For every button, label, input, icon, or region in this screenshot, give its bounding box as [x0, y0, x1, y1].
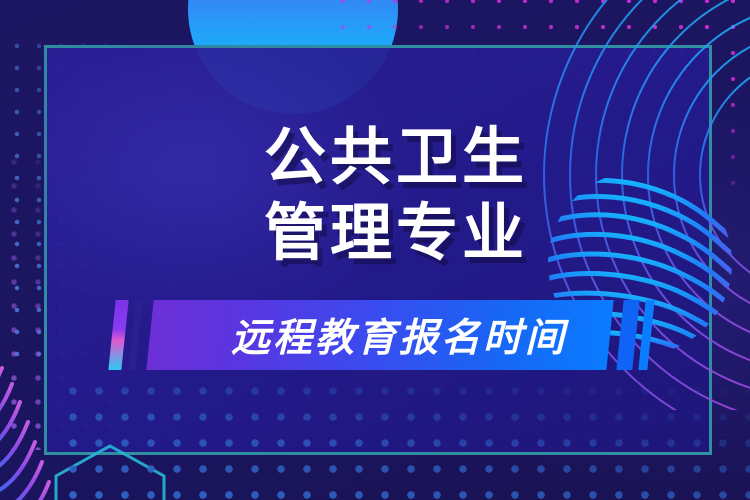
- subtitle-text: 远程教育报名时间: [184, 300, 614, 370]
- dots-bottom-icon: [60, 378, 750, 500]
- page-title: 公共卫生 管理专业: [264, 120, 528, 272]
- sphere-top-icon: [188, 0, 398, 114]
- subtitle-ribbon: 远程教育报名时间: [106, 296, 666, 374]
- poster-canvas: 公共卫生 管理专业 远程教育报名时间: [0, 0, 750, 500]
- ribbon-accent-right-outer: [638, 300, 654, 370]
- ribbon-accent-left-outer: [108, 300, 128, 370]
- hexagon-outline-icon: [50, 440, 170, 500]
- ribbon-accent-right-inner: [616, 300, 639, 370]
- title-line-1: 公共卫生: [264, 120, 528, 196]
- ribbon-accent-left-inner: [128, 300, 142, 370]
- title-line-2: 管理专业: [264, 196, 528, 272]
